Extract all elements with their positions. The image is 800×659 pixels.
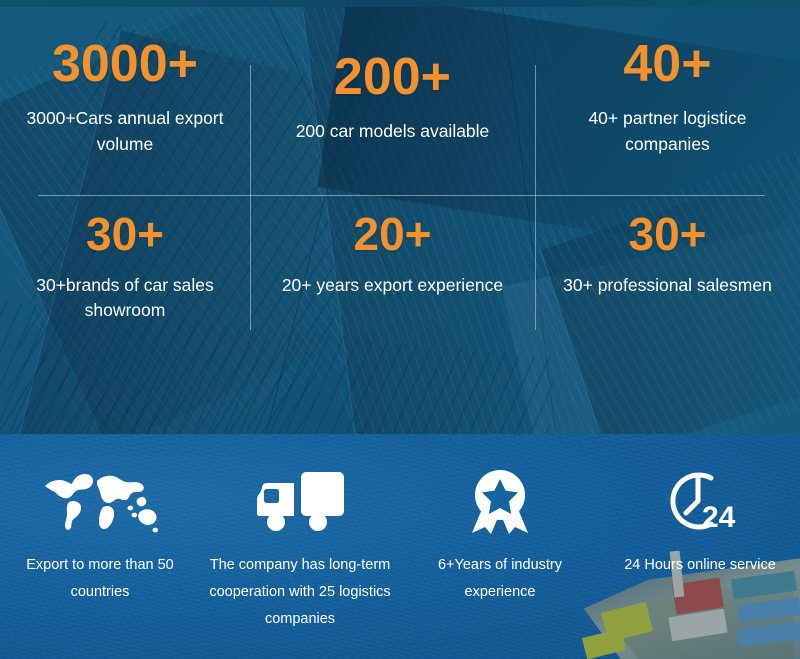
feature-logistics-cooperation: The company has long-term cooperation wi… xyxy=(200,434,400,659)
world-map-icon xyxy=(41,466,159,538)
stat-label: 200 car models available xyxy=(296,119,490,144)
stat-number: 200+ xyxy=(334,51,451,103)
stat-label: 3000+Cars annual export volume xyxy=(14,106,236,157)
stat-number: 30+ xyxy=(86,211,164,257)
stat-number: 3000+ xyxy=(52,38,198,90)
stat-label: 40+ partner logistice companies xyxy=(553,106,783,157)
stat-cell-car-models: 200+ 200 car models available xyxy=(250,0,535,195)
stat-number: 20+ xyxy=(353,211,431,257)
stat-cell-annual-export-volume: 3000+ 3000+Cars annual export volume xyxy=(0,0,250,195)
feature-text: The company has long-term cooperation wi… xyxy=(205,552,395,632)
feature-export-countries: Export to more than 50 countries xyxy=(0,434,200,659)
statistics-section: 3000+ 3000+Cars annual export volume 200… xyxy=(0,0,800,434)
feature-text: 6+Years of industry experience xyxy=(405,552,595,606)
stat-label: 30+brands of car sales showroom xyxy=(14,273,236,324)
stat-cell-years-export-experience: 20+ 20+ years export experience xyxy=(250,195,535,360)
svg-text:24: 24 xyxy=(702,501,736,534)
features-section: Export to more than 50 countries The com… xyxy=(0,434,800,659)
statistics-grid: 3000+ 3000+Cars annual export volume 200… xyxy=(0,0,800,434)
stat-number: 40+ xyxy=(623,38,711,90)
stat-label: 30+ professional salesmen xyxy=(563,273,772,298)
clock-24-icon: 24 xyxy=(664,466,736,538)
feature-text: Export to more than 50 countries xyxy=(5,552,195,606)
feature-industry-experience: 6+Years of industry experience xyxy=(400,434,600,659)
stat-cell-brands-showroom: 30+ 30+brands of car sales showroom xyxy=(0,195,250,360)
award-ribbon-icon xyxy=(468,466,532,538)
feature-text: 24 Hours online service xyxy=(624,552,776,579)
feature-online-service: 24 24 Hours online service xyxy=(600,434,800,659)
stat-cell-professional-salesmen: 30+ 30+ professional salesmen xyxy=(535,195,800,360)
company-stats-banner: 3000+ 3000+Cars annual export volume 200… xyxy=(0,0,800,659)
features-grid: Export to more than 50 countries The com… xyxy=(0,434,800,659)
delivery-truck-icon xyxy=(254,466,346,538)
stat-cell-partner-logistics: 40+ 40+ partner logistice companies xyxy=(535,0,800,195)
stat-number: 30+ xyxy=(628,211,706,257)
stat-label: 20+ years export experience xyxy=(282,273,503,298)
